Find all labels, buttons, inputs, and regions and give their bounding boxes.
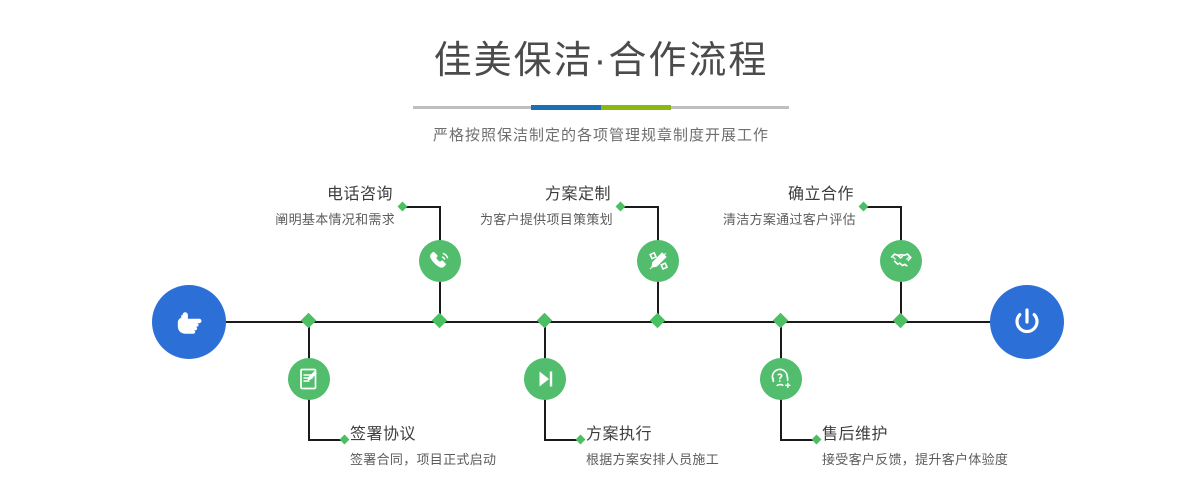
step-desc-1: 阐明基本情况和需求 [220,210,395,230]
step-node-6[interactable] [760,358,802,400]
flow-diagram-canvas: 佳美保洁·合作流程 严格按照保洁制定的各项管理规章制度开展工作 [0,0,1202,502]
pointing-hand-icon [169,302,209,342]
header: 佳美保洁·合作流程 严格按照保洁制定的各项管理规章制度开展工作 [0,0,1202,145]
pencil-ruler-icon [645,248,671,274]
step-node-3[interactable] [637,240,679,282]
power-icon [1007,302,1047,342]
timeline-axis [160,321,1040,323]
label-marker-5 [859,202,869,212]
label-marker-1 [398,202,408,212]
step-label-5: 确立合作 清洁方案通过客户评估 [680,185,856,230]
step-node-5[interactable] [880,240,922,282]
axis-marker-4 [537,313,553,329]
flow-end-endpoint[interactable] [990,285,1064,359]
axis-marker-2 [301,313,317,329]
step-title-6: 售后维护 [822,425,1082,445]
step-label-4: 方案执行 根据方案安排人员施工 [586,425,816,470]
label-marker-2 [340,435,350,445]
step-node-4[interactable] [524,358,566,400]
step-desc-3: 为客户提供项目策策划 [440,210,613,230]
divider-green-segment [601,105,671,110]
step-title-3: 方案定制 [440,185,613,205]
handshake-icon [888,248,914,274]
step-label-3: 方案定制 为客户提供项目策策划 [440,185,613,230]
step-title-4: 方案执行 [586,425,816,445]
connector-horizontal-1 [405,206,441,208]
axis-marker-6 [773,313,789,329]
divider-blue-segment [531,105,601,110]
connector-horizontal-5 [866,206,902,208]
phone-call-icon [427,248,453,274]
step-label-2: 签署协议 签署合同，项目正式启动 [350,425,580,470]
step-title-2: 签署协议 [350,425,580,445]
step-node-2[interactable] [288,358,330,400]
step-node-1[interactable] [419,240,461,282]
step-desc-6: 接受客户反馈，提升客户体验度 [822,450,1082,470]
play-skip-icon [532,366,558,392]
flow-start-endpoint[interactable] [152,285,226,359]
axis-marker-3 [650,313,666,329]
step-title-5: 确立合作 [680,185,856,205]
axis-marker-1 [432,313,448,329]
step-desc-5: 清洁方案通过客户评估 [680,210,856,230]
step-desc-2: 签署合同，项目正式启动 [350,450,580,470]
step-title-1: 电话咨询 [220,185,395,205]
step-desc-4: 根据方案安排人员施工 [586,450,816,470]
page-title: 佳美保洁·合作流程 [0,42,1202,80]
axis-marker-5 [893,313,909,329]
title-divider [413,106,789,109]
step-label-1: 电话咨询 阐明基本情况和需求 [220,185,395,230]
connector-horizontal-3 [623,206,659,208]
headset-support-icon [768,366,794,392]
step-label-6: 售后维护 接受客户反馈，提升客户体验度 [822,425,1082,470]
page-subtitle: 严格按照保洁制定的各项管理规章制度开展工作 [0,124,1202,145]
label-marker-3 [616,202,626,212]
document-edit-icon [296,366,322,392]
